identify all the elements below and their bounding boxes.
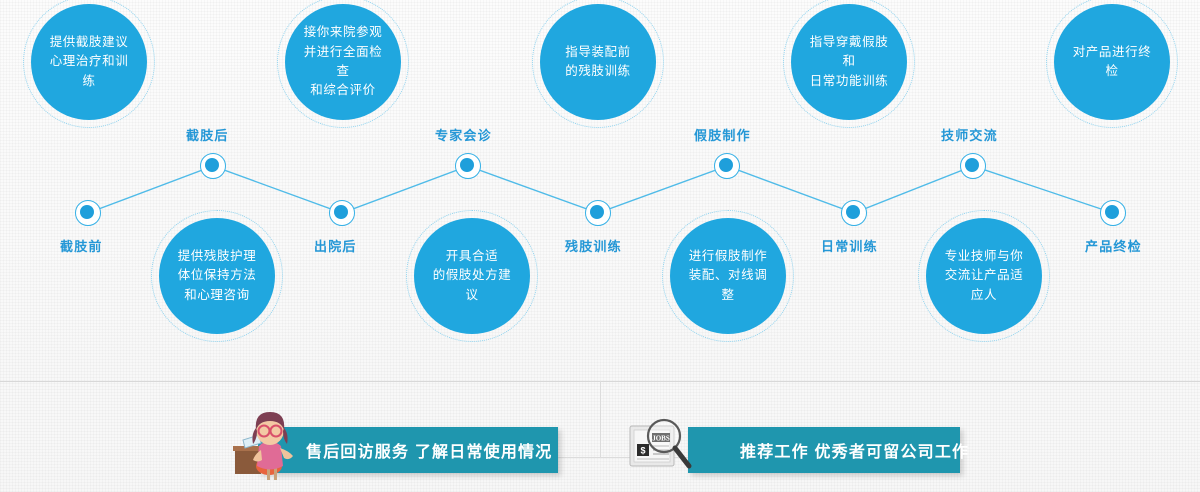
svg-text:$: $ xyxy=(640,446,645,456)
flow-node-expert-consult[interactable] xyxy=(455,153,481,179)
flow-node-pre-amputation[interactable] xyxy=(75,200,101,226)
bubble-stump-training[interactable]: 指导装配前的残肢训练 xyxy=(540,4,656,120)
job-recommend-banner[interactable]: 推荐工作 优秀者可留公司工作 xyxy=(688,427,960,473)
flow-node-label-expert-consult: 专家会诊 xyxy=(435,125,492,144)
banner-drop-connector xyxy=(600,381,601,457)
after-sales-banner[interactable]: 售后回访服务 了解日常使用情况 xyxy=(258,427,558,473)
bubble-prosthesis-make[interactable]: 进行假肢制作装配、对线调整 xyxy=(670,218,786,334)
bubble-pre-amputation-text: 提供截肢建议心理治疗和训练 xyxy=(31,33,147,91)
flow-node-label-post-amputation: 截肢后 xyxy=(186,125,229,144)
flow-node-post-amputation[interactable] xyxy=(200,153,226,179)
flow-node-label-post-discharge: 出院后 xyxy=(314,236,357,255)
flow-node-label-final-check: 产品终检 xyxy=(1085,236,1142,255)
flow-node-prosthesis-make[interactable] xyxy=(714,153,740,179)
job-recommend-banner-label: 推荐工作 优秀者可留公司工作 xyxy=(740,438,969,462)
bubble-post-amputation[interactable]: 提供残肢护理体位保持方法和心理咨询 xyxy=(159,218,275,334)
flow-node-label-prosthesis-make: 假肢制作 xyxy=(694,125,751,144)
flow-node-final-check[interactable] xyxy=(1100,200,1126,226)
woman-at-desk-icon xyxy=(233,410,297,485)
flow-node-label-tech-exchange: 技师交流 xyxy=(941,125,998,144)
bubble-daily-training[interactable]: 指导穿戴假肢和日常功能训练 xyxy=(791,4,907,120)
flow-node-daily-training[interactable] xyxy=(841,200,867,226)
bubble-stump-training-text: 指导装配前的残肢训练 xyxy=(549,43,647,82)
bubble-tech-exchange-text: 专业技师与你交流让产品适应人 xyxy=(926,247,1042,305)
flow-node-label-pre-amputation: 截肢前 xyxy=(60,236,103,255)
bubble-daily-training-text: 指导穿戴假肢和日常功能训练 xyxy=(791,33,907,91)
after-sales-banner-label: 售后回访服务 了解日常使用情况 xyxy=(306,438,552,462)
bubble-final-check[interactable]: 对产品进行终检 xyxy=(1054,4,1170,120)
bubble-final-check-text: 对产品进行终检 xyxy=(1054,43,1170,82)
page-root: 提供截肢建议心理治疗和训练提供残肢护理体位保持方法和心理咨询接你来院参观并进行全… xyxy=(0,0,1200,492)
flow-node-stump-training[interactable] xyxy=(585,200,611,226)
bubble-prosthesis-make-text: 进行假肢制作装配、对线调整 xyxy=(670,247,786,305)
bubble-tech-exchange[interactable]: 专业技师与你交流让产品适应人 xyxy=(926,218,1042,334)
flow-node-post-discharge[interactable] xyxy=(329,200,355,226)
flow-node-label-stump-training: 残肢训练 xyxy=(565,236,622,255)
bubble-expert-consult-text: 开具合适的假肢处方建议 xyxy=(414,247,530,305)
flow-node-label-daily-training: 日常训练 xyxy=(821,236,878,255)
bubble-pre-amputation[interactable]: 提供截肢建议心理治疗和训练 xyxy=(31,4,147,120)
flow-node-tech-exchange[interactable] xyxy=(960,153,986,179)
jobs-magnifier-icon: JOBS$ xyxy=(626,414,696,481)
bubble-expert-consult[interactable]: 开具合适的假肢处方建议 xyxy=(414,218,530,334)
bubble-post-discharge-text: 接你来院参观并进行全面检查和综合评价 xyxy=(285,23,401,101)
bubble-post-discharge[interactable]: 接你来院参观并进行全面检查和综合评价 xyxy=(285,4,401,120)
bubble-post-amputation-text: 提供残肢护理体位保持方法和心理咨询 xyxy=(162,247,273,305)
